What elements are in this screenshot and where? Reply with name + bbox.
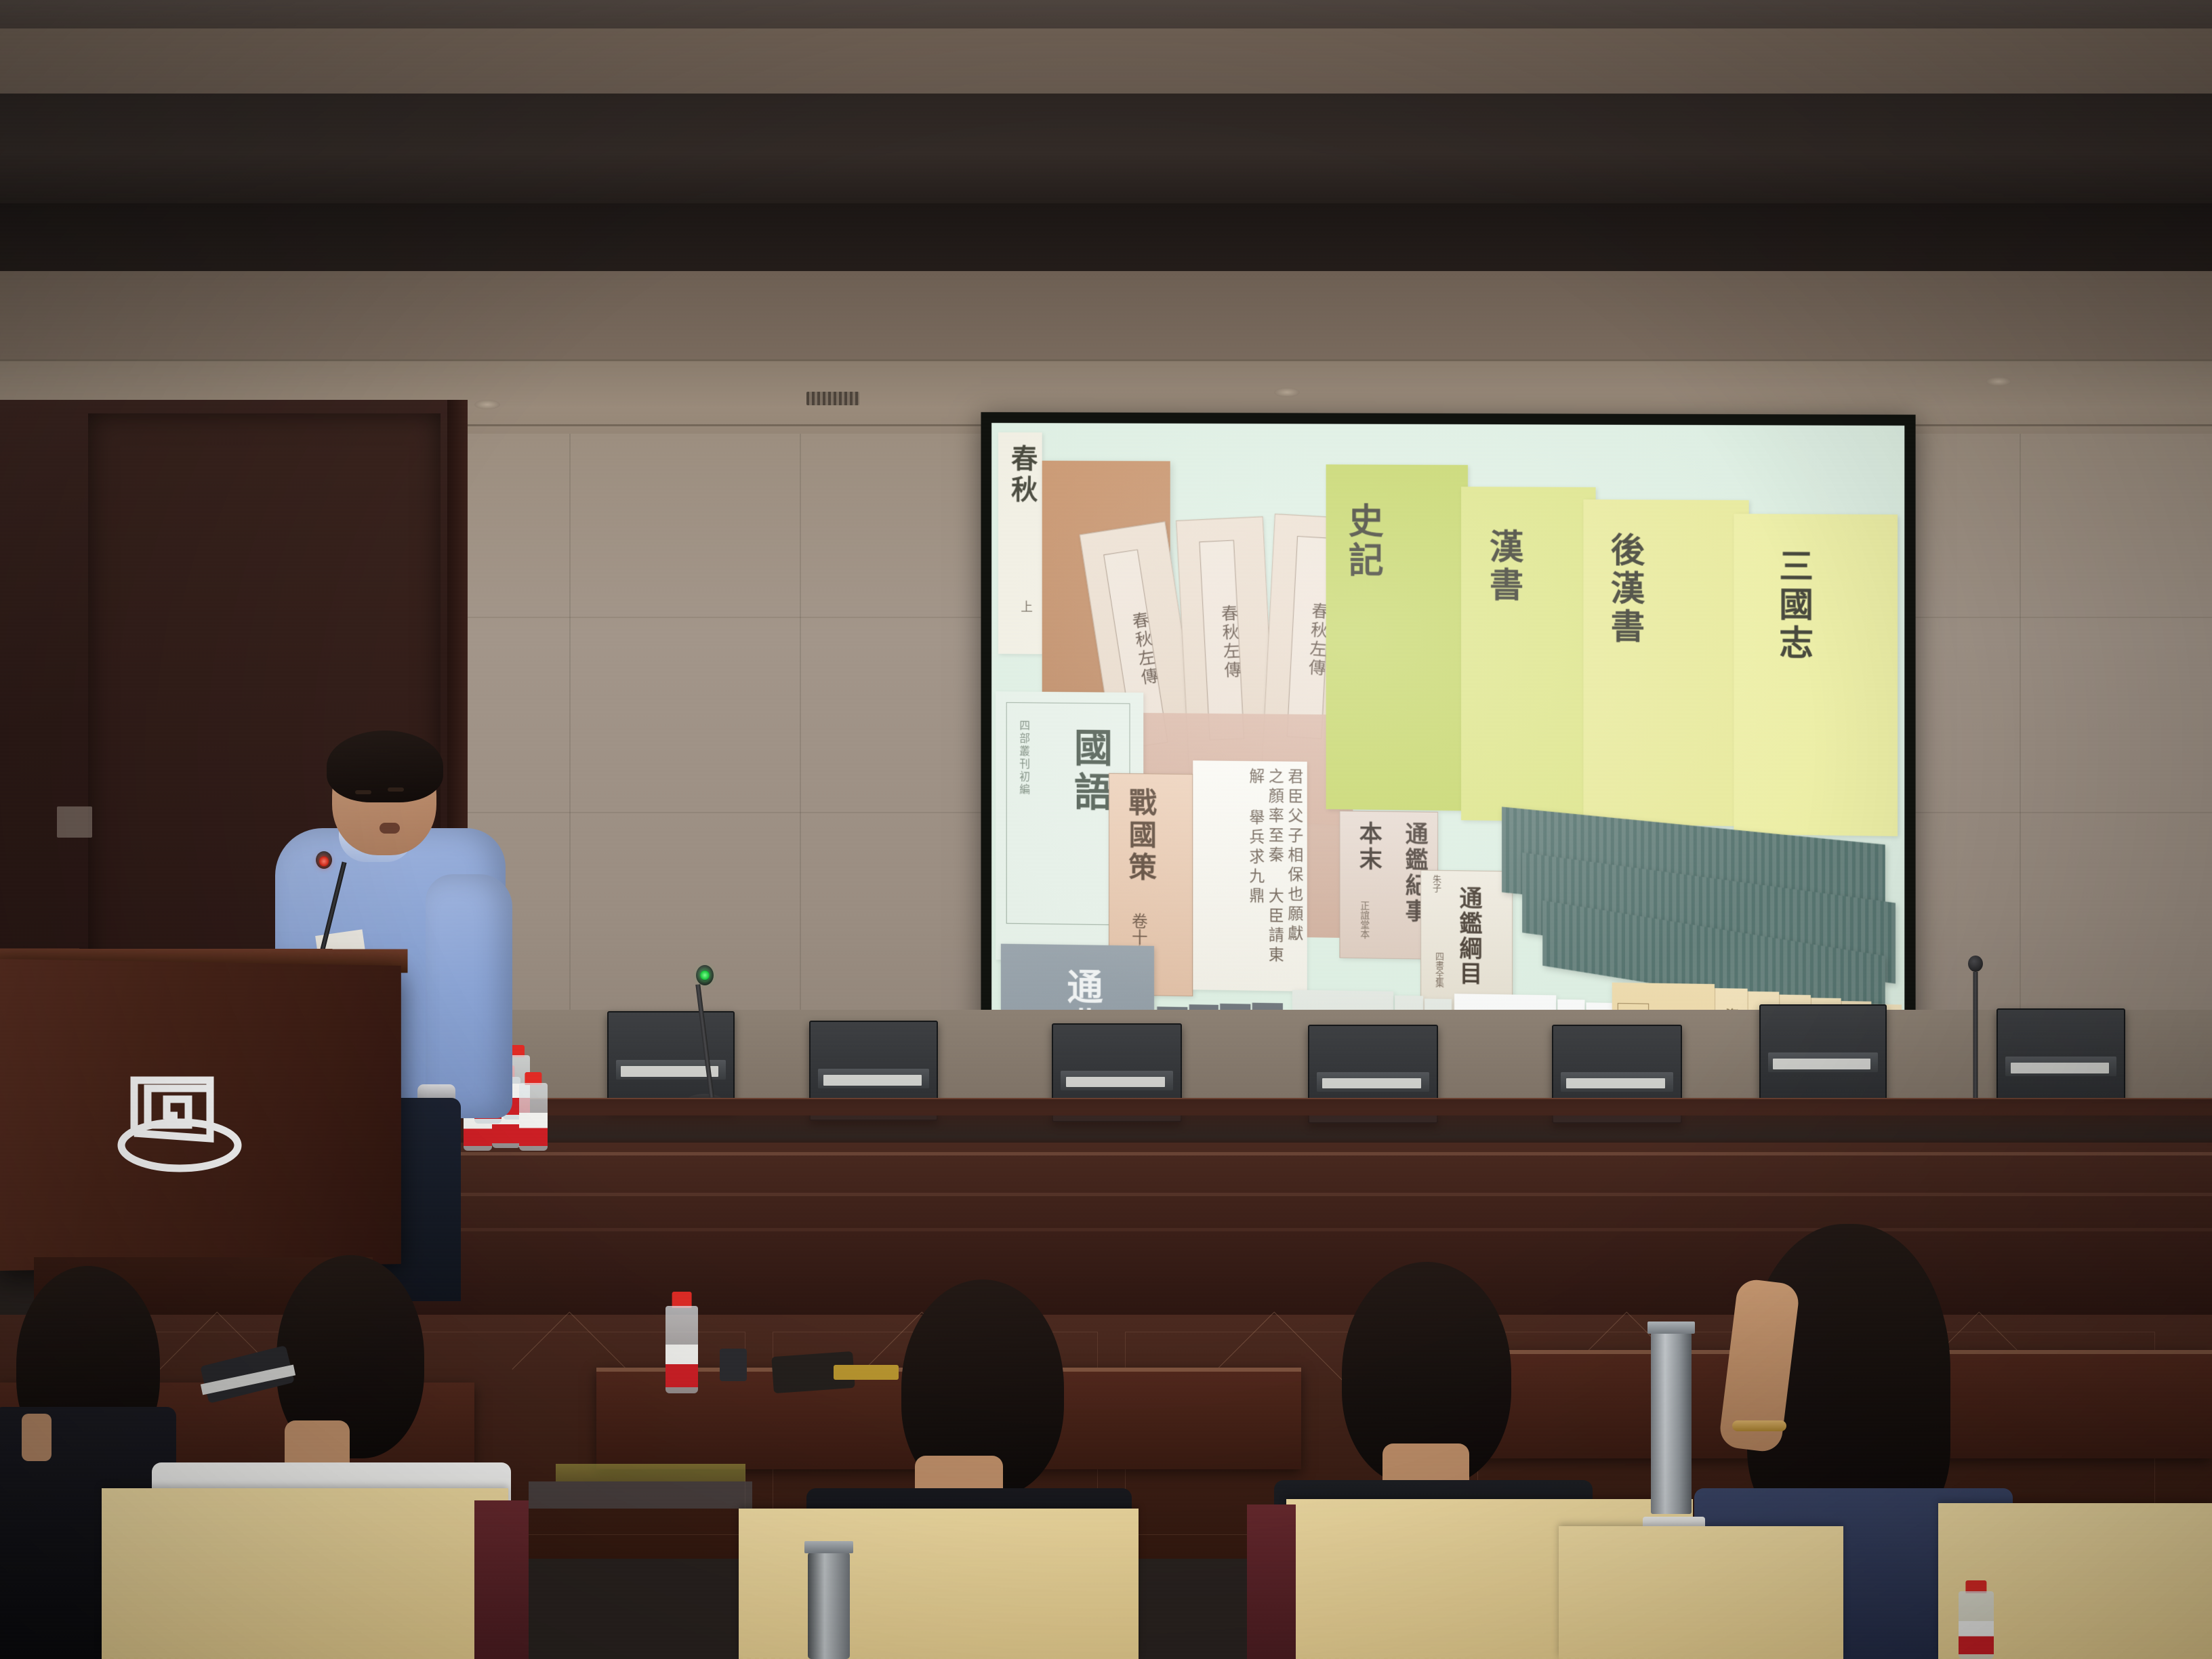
slide-title-tongjian-benmo: 本末 bbox=[1352, 821, 1385, 872]
water-bottle[interactable] bbox=[665, 1292, 698, 1393]
ceiling-band-light bbox=[0, 28, 2212, 94]
nameplate bbox=[1566, 1078, 1666, 1089]
slide-excerpt-page: 君臣父子相保也願獻 之顏率至秦 大臣請東解 舉兵求九鼎 bbox=[1193, 760, 1307, 991]
ceiling-downlight-icon bbox=[474, 400, 500, 409]
seat-cover bbox=[1559, 1526, 1843, 1659]
nameplate bbox=[1322, 1078, 1422, 1089]
stage-chair[interactable] bbox=[1996, 1008, 2125, 1109]
slide-subtitle-tongjian-benmo: 正誼堂本 bbox=[1357, 901, 1371, 939]
slide-title-hanshu: 漢書 bbox=[1486, 529, 1521, 605]
speaker-mouth bbox=[380, 823, 400, 834]
floor-carpet bbox=[529, 1481, 752, 1509]
dais-moulding bbox=[380, 1228, 2212, 1231]
wall-switch-plate[interactable] bbox=[57, 806, 92, 838]
bracelet bbox=[1732, 1420, 1786, 1431]
projection-screen: 春秋 上 春秋左傳 春秋左傳 春秋左傳 史記 漢書 bbox=[981, 412, 1915, 1051]
slide-title-tongjian-gangmu: 通鑑綱目 bbox=[1452, 886, 1486, 987]
gooseneck-microphone-icon[interactable] bbox=[1952, 956, 1999, 1111]
nameplate bbox=[823, 1075, 922, 1086]
ceiling-band-lower bbox=[0, 271, 2212, 366]
water-bottle[interactable] bbox=[519, 1072, 548, 1151]
slide-book-shiji: 史記 bbox=[1326, 464, 1468, 811]
seat-cover bbox=[739, 1509, 1139, 1659]
dais-top-surface bbox=[380, 1099, 2212, 1147]
speaker-arm bbox=[426, 874, 512, 1118]
water-bottle[interactable] bbox=[1959, 1580, 1994, 1659]
slide-title-zuozhuan: 春秋左傳 bbox=[1199, 540, 1244, 741]
slide-title-shiji: 史記 bbox=[1343, 502, 1380, 581]
floor-strip bbox=[556, 1464, 745, 1481]
seat-back bbox=[1247, 1504, 1296, 1659]
slide-subtitle-guoyu-series: 四部叢刊初編 bbox=[1015, 720, 1031, 796]
speaker-eye bbox=[355, 790, 371, 794]
thermos[interactable] bbox=[808, 1552, 850, 1659]
ceiling-band-shadow bbox=[0, 203, 2212, 271]
nameplate bbox=[1773, 1059, 1870, 1069]
audience-member-neck bbox=[22, 1414, 52, 1461]
speaker-eye bbox=[388, 787, 404, 792]
slide-label-tongjian-gangmu-top: 朱子 bbox=[1429, 875, 1442, 893]
slide-book-hanshu: 漢書 bbox=[1461, 487, 1596, 821]
projected-slide: 春秋 上 春秋左傳 春秋左傳 春秋左傳 史記 漢書 bbox=[991, 423, 1904, 1040]
slide-title-chunqiu: 春秋 bbox=[1008, 445, 1036, 506]
gooseneck-microphone-icon[interactable] bbox=[678, 965, 732, 1109]
desk-device[interactable] bbox=[720, 1349, 747, 1381]
seat-cover bbox=[102, 1488, 508, 1659]
lecture-hall-scene: 春秋 上 春秋左傳 春秋左傳 春秋左傳 史記 漢書 bbox=[0, 0, 2212, 1659]
stage-chair[interactable] bbox=[1759, 1004, 1887, 1105]
ceiling-vent-icon bbox=[806, 392, 859, 405]
desk-object bbox=[834, 1365, 899, 1380]
ceiling-downlight-icon bbox=[1986, 377, 2011, 386]
nameplate bbox=[2011, 1063, 2109, 1073]
slide-book-chunqiu-slip: 春秋 上 bbox=[998, 432, 1042, 654]
podium-logo bbox=[108, 1057, 251, 1183]
nameplate bbox=[1066, 1077, 1166, 1088]
dais-moulding bbox=[380, 1152, 2212, 1155]
slide-book-houhanshu: 後漢書 bbox=[1583, 499, 1748, 826]
ceiling-band-top bbox=[0, 0, 2212, 28]
thermos[interactable] bbox=[1651, 1332, 1692, 1514]
speaker-hair bbox=[327, 731, 443, 802]
seat-back bbox=[474, 1500, 529, 1659]
slide-title-houhanshu: 後漢書 bbox=[1607, 532, 1643, 647]
ceiling-downlight-icon bbox=[1274, 388, 1300, 397]
slide-title-zhanguoce: 戰國策 bbox=[1126, 787, 1155, 885]
dais-moulding bbox=[380, 1193, 2212, 1196]
slide-book-sanguozhi: 三國志 bbox=[1734, 514, 1898, 836]
ceiling-band-dark bbox=[0, 94, 2212, 203]
slide-title-sanguozhi: 三國志 bbox=[1775, 548, 1811, 663]
slide-label-tongjian-gangmu-side: 四書全集 bbox=[1432, 952, 1445, 987]
